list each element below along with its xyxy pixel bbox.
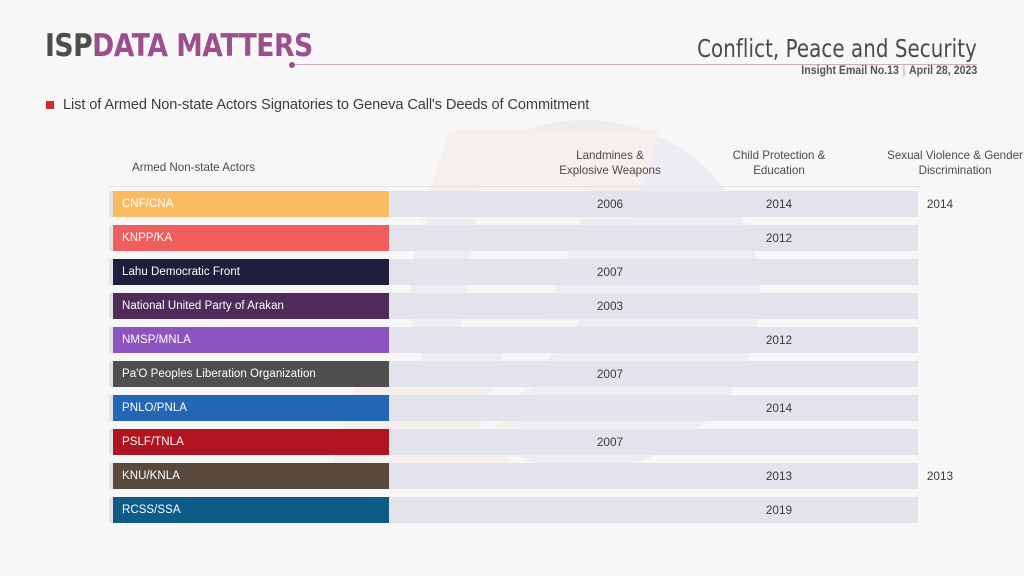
column-header-landmines-line2: Explosive Weapons [506,163,714,178]
cell-landmines [506,327,714,353]
actor-name: KNU/KNLA [122,470,180,482]
table-row: National United Party of Arakan2003 [108,293,920,319]
column-header-actor-line1: Armed Non-state Actors [132,160,255,175]
table-row: KNPP/KA2012 [108,225,920,251]
issue-number: Insight Email No.13 [801,65,899,77]
signatories-table: Armed Non-state Actors Landmines & Explo… [108,145,920,531]
cell-landmines: 2003 [506,293,714,319]
actor-name: RCSS/SSA [122,504,181,516]
actor-name: NMSP/MNLA [122,334,191,346]
header-subline: Insight Email No.13|April 28, 2023 [801,65,977,77]
column-header-child-protection-line2: Education [694,163,864,178]
cell-sexual-violence [850,259,1024,285]
cell-sexual-violence [850,361,1024,387]
cell-sexual-violence [850,225,1024,251]
cell-sexual-violence [850,429,1024,455]
section-subtitle: List of Armed Non-state Actors Signatori… [63,97,589,113]
actor-label-bar: PSLF/TNLA [113,429,389,455]
page-title: Conflict, Peace and Security [697,34,977,63]
table-row: Pa'O Peoples Liberation Organization2007 [108,361,920,387]
cell-landmines: 2007 [506,259,714,285]
table-row: NMSP/MNLA2012 [108,327,920,353]
actor-name: PNLO/PNLA [122,402,187,414]
actor-label-bar: KNU/KNLA [113,463,389,489]
header-separator: | [899,65,909,77]
table-row: Lahu Democratic Front2007 [108,259,920,285]
cell-child-protection: 2012 [694,327,864,353]
brand-logo-isp: ISP [45,28,92,64]
cell-landmines [506,497,714,523]
column-header-child-protection: Child Protection & Education [694,148,864,178]
actor-name: Pa'O Peoples Liberation Organization [122,368,316,380]
cell-landmines [506,463,714,489]
table-body: CNF/CNA200620142014KNPP/KA2012Lahu Democ… [108,187,920,523]
brand-logo: ISPDATA MATTERS [45,28,313,64]
cell-sexual-violence: 2014 [850,191,1024,217]
bullet-marker-icon [46,101,54,109]
actor-label-bar: CNF/CNA [113,191,389,217]
table-row: CNF/CNA200620142014 [108,191,920,217]
cell-sexual-violence [850,293,1024,319]
table-row: PNLO/PNLA2014 [108,395,920,421]
column-header-actor: Armed Non-state Actors [132,160,255,175]
cell-landmines: 2007 [506,429,714,455]
issue-date: April 28, 2023 [909,65,977,77]
table-header-row: Armed Non-state Actors Landmines & Explo… [108,145,920,187]
cell-child-protection [694,361,864,387]
page-header: ISPDATA MATTERS Conflict, Peace and Secu… [0,0,1024,90]
table-row: KNU/KNLA20132013 [108,463,920,489]
actor-label-bar: PNLO/PNLA [113,395,389,421]
actor-name: PSLF/TNLA [122,436,184,448]
brand-logo-datamatters: DATA MATTERS [92,28,313,64]
cell-sexual-violence: 2013 [850,463,1024,489]
cell-child-protection [694,259,864,285]
actor-label-bar: National United Party of Arakan [113,293,389,319]
actor-name: Lahu Democratic Front [122,266,240,278]
table-row: RCSS/SSA2019 [108,497,920,523]
cell-child-protection: 2019 [694,497,864,523]
column-header-sexual-violence: Sexual Violence & Gender Discrimination [850,148,1024,178]
actor-name: National United Party of Arakan [122,300,284,312]
column-header-child-protection-line1: Child Protection & [694,148,864,163]
cell-landmines: 2006 [506,191,714,217]
cell-landmines [506,225,714,251]
actor-label-bar: Pa'O Peoples Liberation Organization [113,361,389,387]
table-row: PSLF/TNLA2007 [108,429,920,455]
column-header-landmines: Landmines & Explosive Weapons [506,148,714,178]
cell-sexual-violence [850,327,1024,353]
cell-child-protection: 2014 [694,395,864,421]
column-header-sexual-violence-line2: Discrimination [850,163,1024,178]
actor-label-bar: NMSP/MNLA [113,327,389,353]
cell-sexual-violence [850,395,1024,421]
cell-landmines [506,395,714,421]
actor-label-bar: Lahu Democratic Front [113,259,389,285]
column-header-sexual-violence-line1: Sexual Violence & Gender [850,148,1024,163]
cell-sexual-violence [850,497,1024,523]
cell-child-protection [694,429,864,455]
brand-logo-dot [289,62,295,68]
actor-label-bar: RCSS/SSA [113,497,389,523]
column-header-landmines-line1: Landmines & [506,148,714,163]
actor-name: CNF/CNA [122,198,173,210]
cell-landmines: 2007 [506,361,714,387]
cell-child-protection [694,293,864,319]
cell-child-protection: 2014 [694,191,864,217]
cell-child-protection: 2013 [694,463,864,489]
actor-label-bar: KNPP/KA [113,225,389,251]
cell-child-protection: 2012 [694,225,864,251]
actor-name: KNPP/KA [122,232,172,244]
section-subtitle-row: List of Armed Non-state Actors Signatori… [46,97,589,113]
